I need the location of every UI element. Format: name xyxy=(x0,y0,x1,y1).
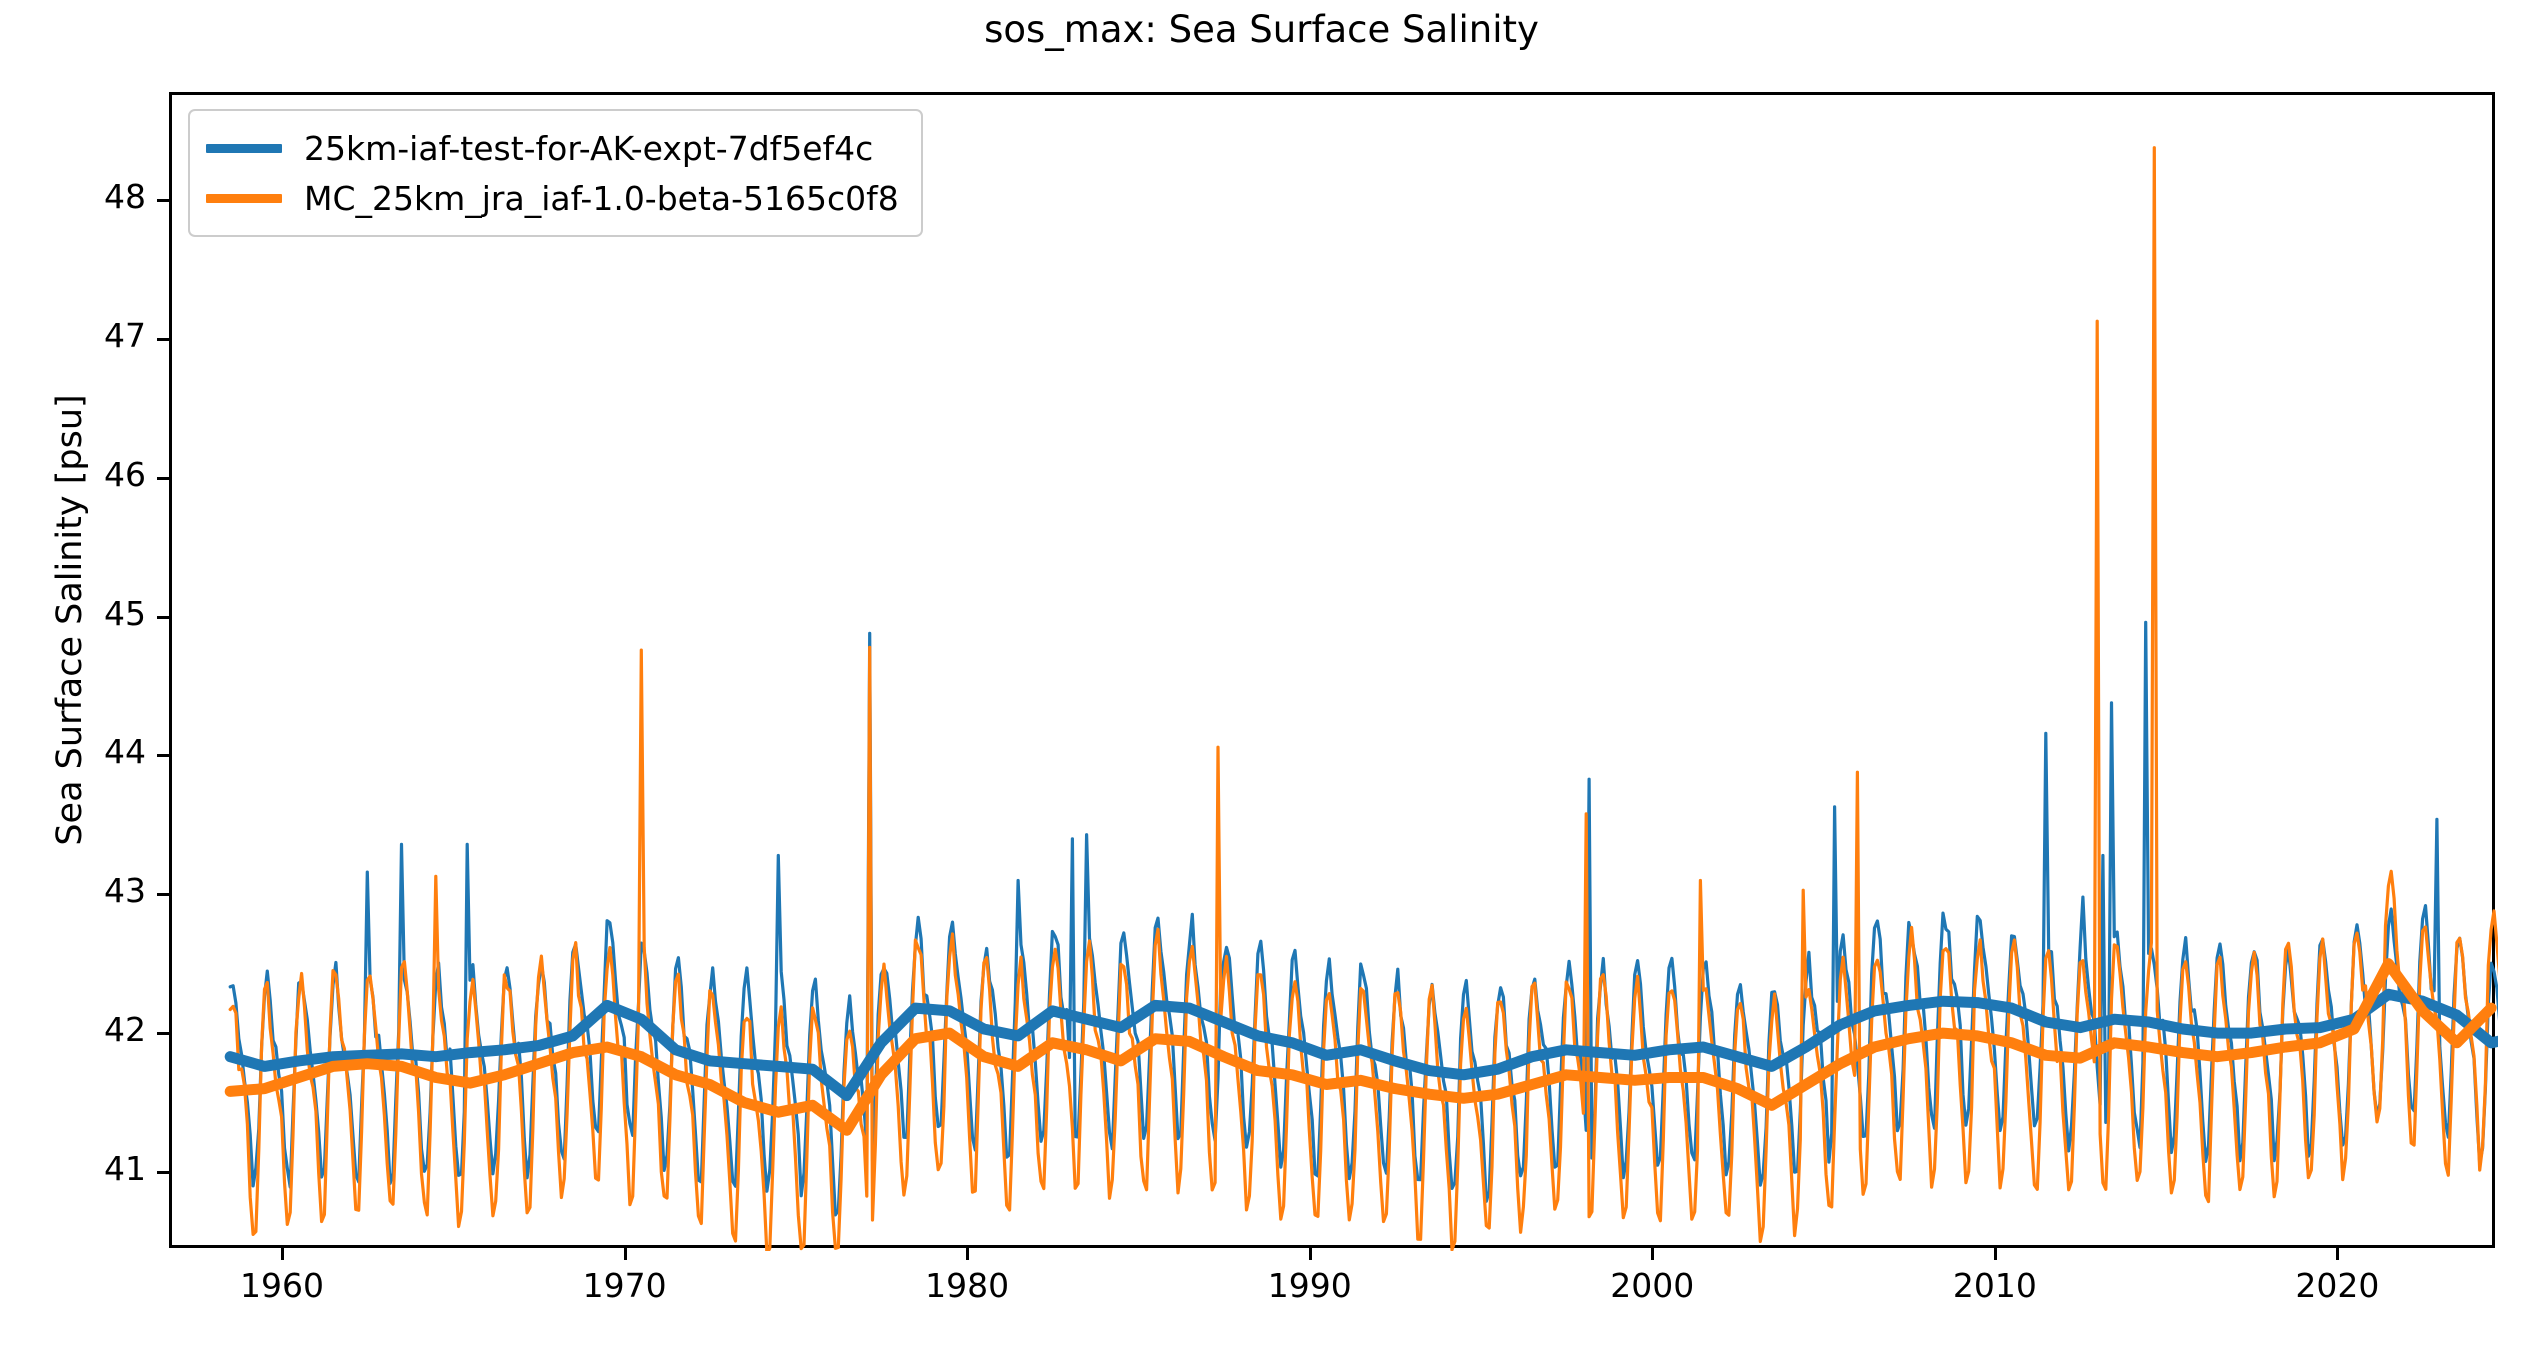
y-axis-tick-label: 41 xyxy=(0,1149,146,1188)
x-axis-tick-label: 1960 xyxy=(202,1266,362,1305)
y-axis-tick-label: 44 xyxy=(0,732,146,771)
y-axis-tick-mark xyxy=(157,338,169,341)
legend-swatch-series-1 xyxy=(206,144,282,153)
x-axis-tick-label: 1980 xyxy=(887,1266,1047,1305)
x-axis-tick-label: 1970 xyxy=(545,1266,705,1305)
figure-canvas: sos_max: Sea Surface Salinity Sea Surfac… xyxy=(0,0,2523,1347)
y-axis-tick-mark xyxy=(157,477,169,480)
y-axis-tick-label: 48 xyxy=(0,177,146,216)
x-axis-tick-label: 2020 xyxy=(2257,1266,2417,1305)
chart-title: sos_max: Sea Surface Salinity xyxy=(0,8,2523,51)
series-canvas xyxy=(172,95,2498,1251)
y-axis-tick-mark xyxy=(157,199,169,202)
y-axis-tick-label: 46 xyxy=(0,455,146,494)
legend-entry-0[interactable]: 25km-iaf-test-for-AK-expt-7df5ef4c xyxy=(206,123,899,173)
legend-box[interactable]: 25km-iaf-test-for-AK-expt-7df5ef4c MC_25… xyxy=(188,109,923,237)
legend-label-series-1: 25km-iaf-test-for-AK-expt-7df5ef4c xyxy=(304,129,873,168)
y-axis-tick-label: 43 xyxy=(0,871,146,910)
x-axis-tick-label: 2000 xyxy=(1572,1266,1732,1305)
legend-swatch-series-2 xyxy=(206,194,282,203)
legend-label-series-2: MC_25km_jra_iaf-1.0-beta-5165c0f8 xyxy=(304,179,899,218)
legend-entry-1[interactable]: MC_25km_jra_iaf-1.0-beta-5165c0f8 xyxy=(206,173,899,223)
x-axis-tick-label: 1990 xyxy=(1230,1266,1390,1305)
y-axis-tick-label: 42 xyxy=(0,1010,146,1049)
plot-area: 25km-iaf-test-for-AK-expt-7df5ef4c MC_25… xyxy=(169,92,2495,1248)
y-axis-tick-mark xyxy=(157,754,169,757)
y-axis-tick-mark xyxy=(157,616,169,619)
y-axis-tick-label: 45 xyxy=(0,594,146,633)
y-axis-tick-mark xyxy=(157,1171,169,1174)
y-axis-tick-mark xyxy=(157,1032,169,1035)
y-axis-tick-mark xyxy=(157,893,169,896)
x-axis-tick-label: 2010 xyxy=(1915,1266,2075,1305)
y-axis-tick-label: 47 xyxy=(0,316,146,355)
